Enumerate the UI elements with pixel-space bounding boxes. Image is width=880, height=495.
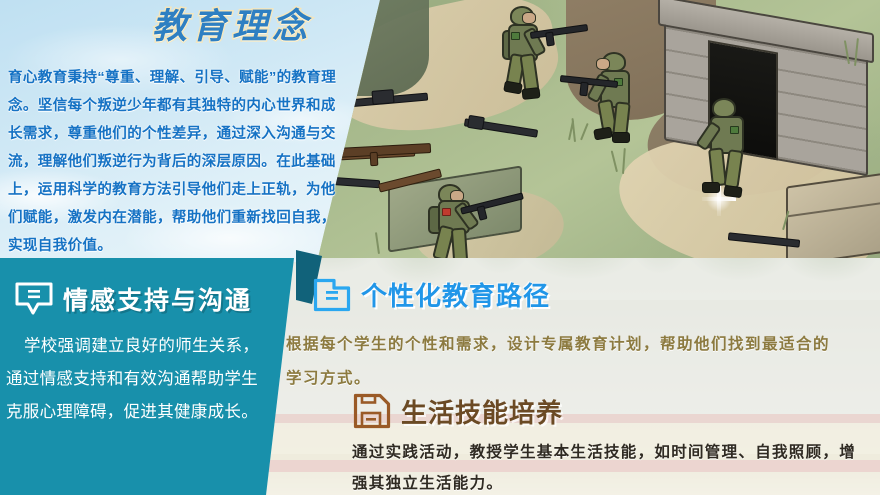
dropped-weapon-part bbox=[371, 89, 394, 105]
rifle-magazine bbox=[370, 152, 379, 166]
soldier-figure bbox=[588, 52, 664, 162]
soldier-figure bbox=[698, 98, 774, 218]
intro-paragraph: 育心教育秉持“尊重、理解、引导、赋能”的教育理念。坚信每个叛逆少年都有其独特的内… bbox=[8, 64, 338, 260]
section-body-life-skills: 通过实践活动，教授学生基本生活技能，如时间管理、自我照顾，增强其独立生活能力。 bbox=[352, 437, 872, 495]
document-icon bbox=[312, 277, 352, 313]
soldier-figure bbox=[426, 184, 506, 258]
page-title: 教育理念 bbox=[152, 2, 362, 52]
section-body-personalized-path: 根据每个学生的个性和需求，设计专属教育计划，帮助他们找到最适合的学习方式。 bbox=[286, 328, 846, 396]
dropped-weapon-part bbox=[467, 115, 485, 130]
speech-bubble-icon bbox=[14, 282, 54, 316]
save-disk-icon bbox=[352, 392, 392, 430]
soldier-figure bbox=[498, 4, 568, 108]
tactical-scene-illustration bbox=[318, 0, 880, 258]
section-heading-personalized-path: 个性化教育路径 bbox=[312, 276, 550, 313]
poster-canvas: 教育理念 育心教育秉持“尊重、理解、引导、赋能”的教育理念。坚信每个叛逆少年都有… bbox=[0, 0, 880, 495]
section-heading-life-skills: 生活技能培养 bbox=[352, 392, 563, 430]
section-heading-label: 个性化教育路径 bbox=[361, 276, 550, 313]
section-body-emotional-support: 学校强调建立良好的师生关系，通过情感支持和有效沟通帮助学生克服心理障碍，促进其健… bbox=[6, 330, 264, 429]
section-heading-emotional-support: 情感支持与沟通 bbox=[14, 281, 252, 317]
section-heading-label: 情感支持与沟通 bbox=[63, 281, 252, 317]
section-heading-label: 生活技能培养 bbox=[401, 393, 563, 430]
